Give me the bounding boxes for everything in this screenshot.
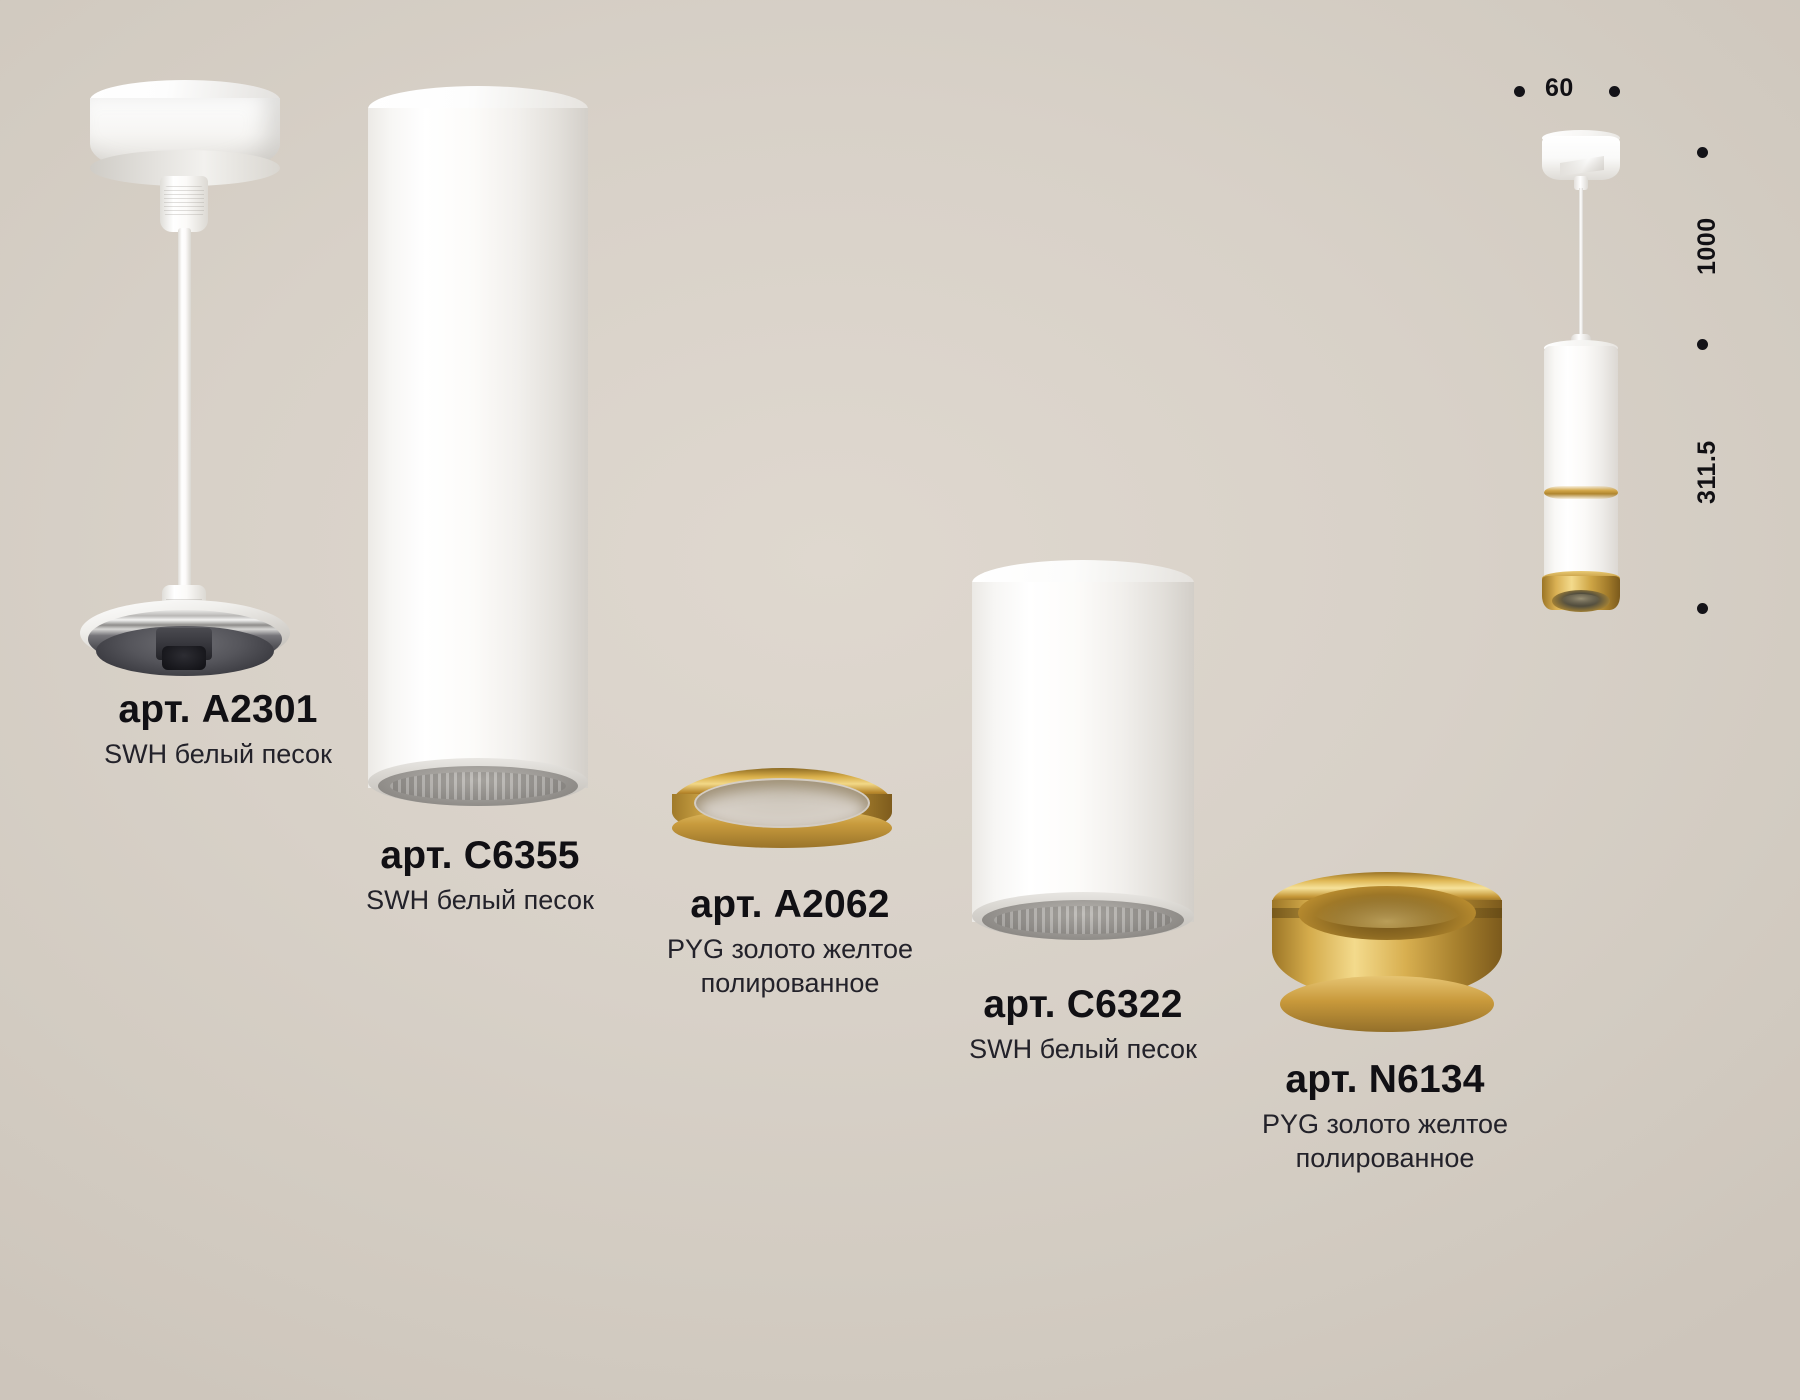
pendant-lens-highlight (1562, 594, 1600, 606)
cylinder-body-c6322 (972, 582, 1194, 922)
finish-a2062: PYG золото желтое полированное (620, 932, 960, 1001)
cylinder-bottom-ribs-c6355 (390, 772, 566, 800)
pendant-cord (1579, 188, 1583, 340)
assembled-pendant-luminaire (1530, 128, 1660, 648)
product-image-c6355 (368, 86, 588, 826)
reflector-base (1280, 976, 1494, 1032)
reflector-highlight (1312, 894, 1462, 928)
art-code-n6134: арт. N6134 (1205, 1060, 1565, 1101)
art-code-a2062: арт. A2062 (620, 885, 960, 926)
gold-ring-inner-shadow (696, 780, 868, 826)
dim-dot-suspension-bottom (1697, 339, 1708, 350)
cylinder-bottom-ribs-c6322 (994, 906, 1172, 934)
art-code-c6355: арт. C6355 (310, 836, 650, 877)
upper-socket (160, 176, 208, 232)
label-n6134: арт. N6134 PYG золото желтое полированно… (1205, 1060, 1565, 1176)
cylinder-body-c6355 (368, 108, 588, 788)
art-code-c6322: арт. C6322 (913, 985, 1253, 1026)
pendant-ceiling-cup (1542, 136, 1620, 180)
label-c6355: арт. C6355 SWH белый песок (310, 836, 650, 917)
pendant-gold-band (1544, 486, 1618, 499)
base-disc-hex-socket (162, 646, 206, 670)
dim-value-suspension: 1000 (1693, 217, 1722, 275)
dim-dot-fixture-bottom (1697, 603, 1708, 614)
finish-c6322: SWH белый песок (913, 1032, 1253, 1067)
suspension-rod (178, 228, 191, 603)
label-a2301: арт. A2301 SWH белый песок (48, 690, 388, 771)
dim-value-fixture: 311.5 (1693, 440, 1722, 504)
product-image-a2301 (80, 80, 380, 660)
dim-value-diameter: 60 (1545, 74, 1574, 103)
product-image-a2062 (672, 768, 892, 858)
product-diagram-canvas: арт. A2301 SWH белый песок арт. C6355 SW… (0, 0, 1800, 1400)
label-c6322: арт. C6322 SWH белый песок (913, 985, 1253, 1066)
finish-c6355: SWH белый песок (310, 883, 650, 918)
product-image-c6322 (972, 560, 1194, 960)
finish-a2301: SWH белый песок (48, 737, 388, 772)
label-a2062: арт. A2062 PYG золото желтое полированно… (620, 885, 960, 1001)
dim-dot-diameter-left (1514, 86, 1525, 97)
finish-n6134: PYG золото желтое полированное (1205, 1107, 1565, 1176)
pendant-tube-body (1544, 346, 1618, 598)
product-image-n6134 (1272, 872, 1502, 1042)
dim-dot-diameter-right (1609, 86, 1620, 97)
art-code-a2301: арт. A2301 (48, 690, 388, 731)
dim-dot-suspension-top (1697, 147, 1708, 158)
